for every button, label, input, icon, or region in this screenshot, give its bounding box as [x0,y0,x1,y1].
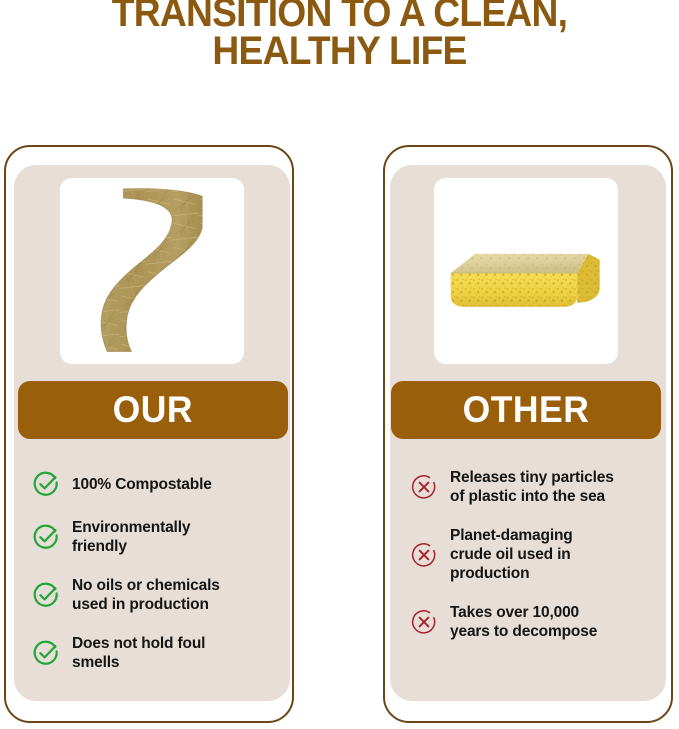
cross-circle-icon [410,541,438,569]
list-item: Environmentally friendly [32,518,280,556]
coir-shape-svg [93,187,214,354]
list-item-label: Releases tiny particles of plastic into … [450,468,614,506]
list-item-label: No oils or chemicals used in production [72,576,220,614]
list-item: Takes over 10,000 years to decompose [410,603,658,641]
our-product-image-frame [60,178,244,364]
yellow-sponge-image [434,178,618,364]
list-item: No oils or chemicals used in production [32,576,280,614]
list-item-label: 100% Compostable [72,475,212,494]
check-circle-icon [32,523,60,551]
check-circle-icon [32,639,60,667]
list-item-label: Takes over 10,000 years to decompose [450,603,597,641]
page-title-line-2: HEALTHY LIFE [24,32,655,70]
list-item-label: Does not hold foul smells [72,634,205,672]
our-feature-list: 100% Compostable Environmentally friendl… [32,470,280,672]
other-feature-list: Releases tiny particles of plastic into … [410,468,658,641]
coir-scrub-pad-image [60,178,244,364]
page-title: TRANSITION TO A CLEAN, HEALTHY LIFE [0,0,679,70]
other-banner: OTHER [391,381,661,439]
list-item-label: Planet-damaging crude oil used in produc… [450,526,573,583]
list-item: 100% Compostable [32,470,280,498]
cross-circle-icon [410,473,438,501]
cross-circle-icon [410,608,438,636]
check-circle-icon [32,581,60,609]
check-circle-icon [32,470,60,498]
sponge-shape-svg [447,252,605,312]
list-item: Planet-damaging crude oil used in produc… [410,526,658,583]
page-title-line-1: TRANSITION TO A CLEAN, [24,0,655,32]
list-item: Does not hold foul smells [32,634,280,672]
other-banner-label: OTHER [463,389,590,431]
our-banner-label: OUR [113,389,193,431]
other-product-image-frame [434,178,618,364]
our-banner: OUR [18,381,288,439]
list-item: Releases tiny particles of plastic into … [410,468,658,506]
list-item-label: Environmentally friendly [72,518,190,556]
